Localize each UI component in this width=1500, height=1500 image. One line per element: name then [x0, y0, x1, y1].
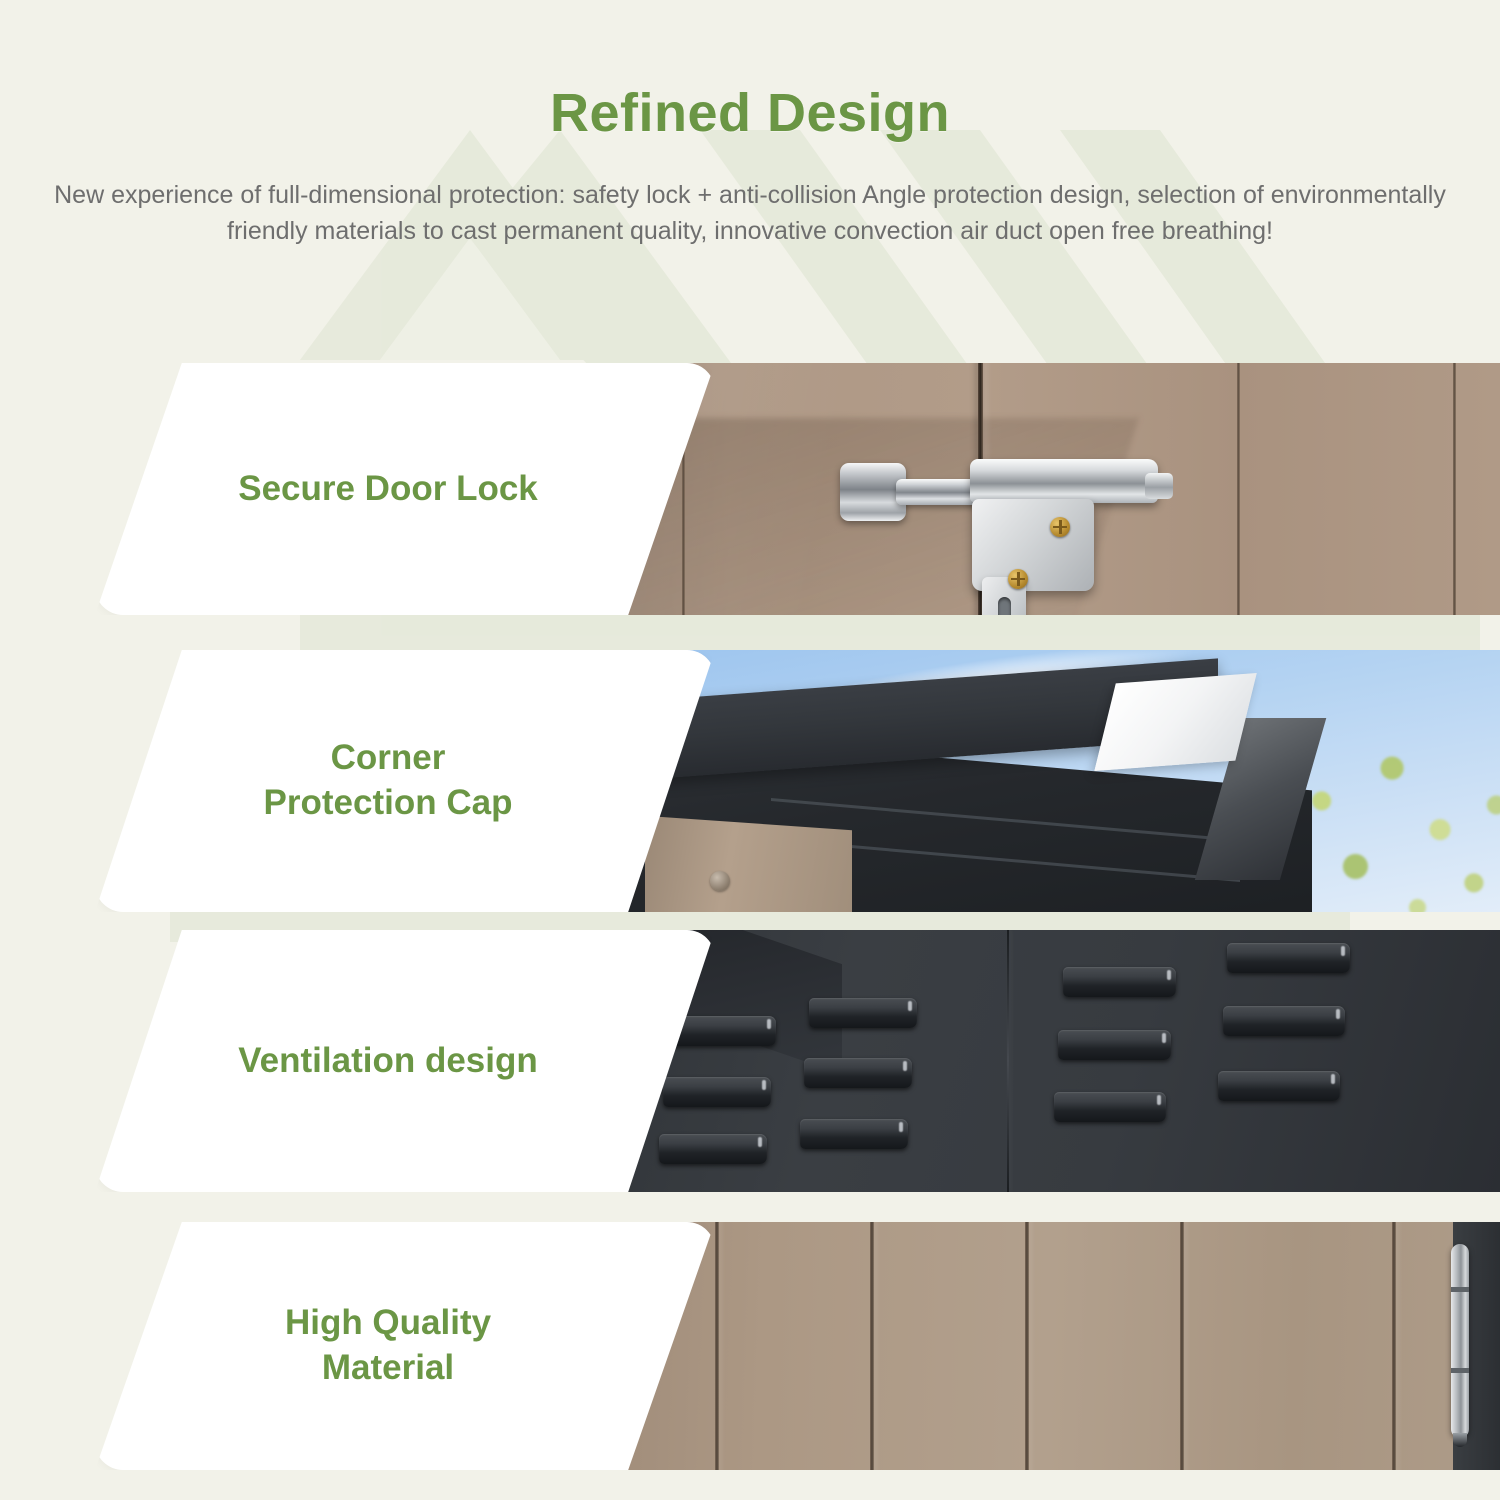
screw-icon	[1050, 517, 1070, 537]
louver-vent	[663, 1077, 771, 1107]
feature-label-3: High Quality Material	[95, 1301, 715, 1391]
panel-seam	[1180, 1222, 1184, 1470]
page-title: Refined Design	[0, 82, 1500, 144]
feature-row-secure-door-lock: Secure Door Lock	[0, 363, 1500, 615]
feature-card-2: Ventilation design	[95, 930, 715, 1192]
feature-row-ventilation-design: Ventilation design	[0, 930, 1500, 1192]
louver-vent	[1063, 967, 1176, 997]
louver-vent	[1227, 943, 1349, 973]
feature-row-high-quality-material: High Quality Material	[0, 1222, 1500, 1470]
hinge-pin	[1453, 1433, 1467, 1447]
feature-card-1: Corner Protection Cap	[95, 650, 715, 912]
louver-vent	[1218, 1071, 1340, 1101]
panel-seam	[1025, 1222, 1029, 1470]
louver-vent	[809, 998, 917, 1028]
page-header: Refined Design New experience of full-di…	[0, 0, 1500, 249]
hinge-knuckle	[1451, 1287, 1469, 1292]
page-subtitle: New experience of full-dimensional prote…	[50, 178, 1450, 249]
louver-vent	[804, 1058, 912, 1088]
roof-rib	[795, 840, 1240, 882]
bolt-cover	[970, 459, 1158, 503]
screw-icon	[1008, 569, 1028, 589]
bolt-end-cap	[1145, 473, 1173, 499]
door-groove	[1453, 363, 1456, 615]
feature-card-3: High Quality Material	[95, 1222, 715, 1470]
feature-label-2: Ventilation design	[95, 1039, 715, 1084]
hinge-knuckle	[1451, 1368, 1469, 1373]
feature-card-0: Secure Door Lock	[95, 363, 715, 615]
feature-label-0: Secure Door Lock	[95, 467, 715, 512]
padlock-slot	[998, 597, 1011, 615]
shed-wall	[645, 816, 852, 912]
louver-vent	[1054, 1092, 1167, 1122]
louver-vent	[659, 1134, 767, 1164]
panel-seam	[870, 1222, 874, 1470]
panel-seam	[715, 1222, 719, 1470]
corner-protection-cap	[1094, 673, 1257, 771]
door-groove	[1237, 363, 1240, 615]
louver-vent	[1058, 1030, 1171, 1060]
louver-vent	[1223, 1006, 1345, 1036]
louver-vent	[800, 1119, 908, 1149]
panel-split-seam	[1007, 930, 1009, 1192]
panel-seam	[1392, 1222, 1396, 1470]
feature-row-corner-protection-cap: Corner Protection Cap	[0, 650, 1500, 912]
feature-label-1: Corner Protection Cap	[95, 736, 715, 826]
door-hinge-icon	[1451, 1244, 1469, 1437]
